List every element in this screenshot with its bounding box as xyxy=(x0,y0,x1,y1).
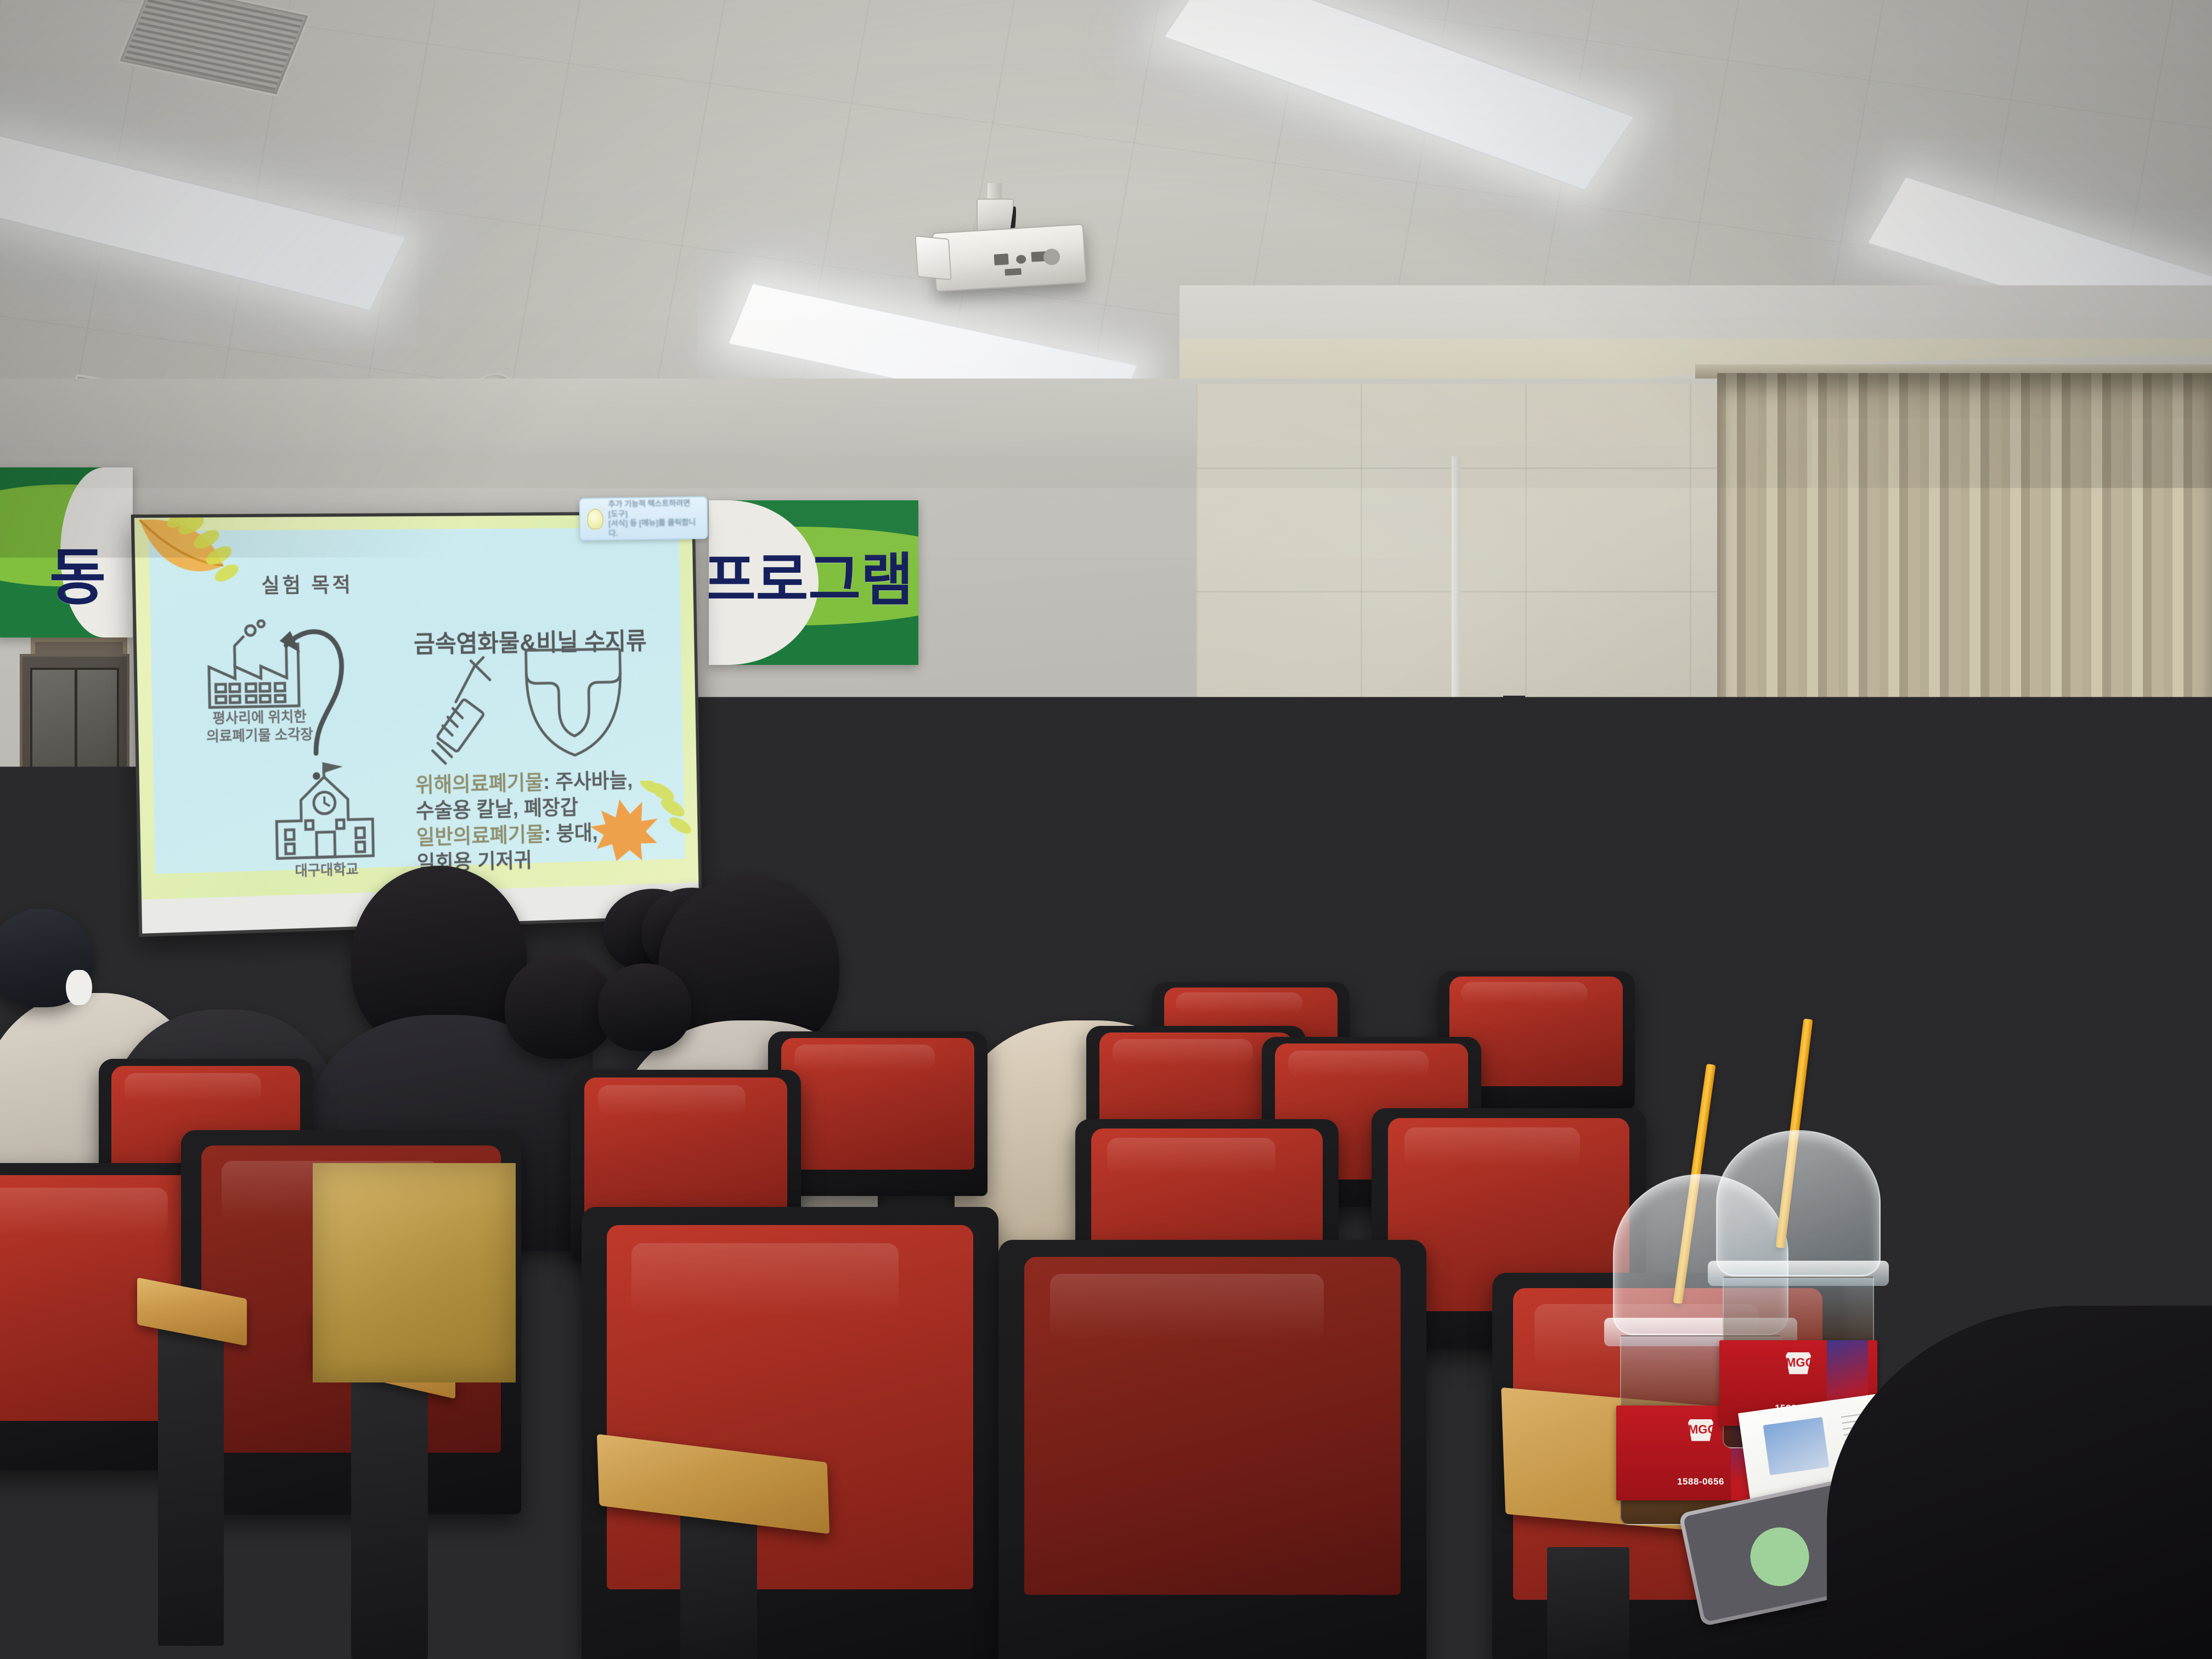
left-banner-text: 동 xyxy=(49,528,106,617)
presentation-slide: 실험 목적 금속염화물&비닐 수지류 xyxy=(134,515,699,900)
mega-coffee-logo: MGC xyxy=(1786,1352,1811,1374)
presenter xyxy=(947,742,1075,879)
syringe-icon xyxy=(422,652,503,766)
audience-head xyxy=(1251,844,1353,933)
face-mask-icon xyxy=(1942,856,1980,916)
slide-body-line-1-kw: 위해의료폐기물 xyxy=(415,771,544,797)
face-mask-icon xyxy=(986,782,1037,816)
audience-head-foreground xyxy=(1964,735,2200,1020)
slide-inner-panel: 실험 목적 금속염화물&비닐 수지류 xyxy=(149,527,685,874)
seat-frame-post xyxy=(1547,1547,1629,1659)
school-caption: 대구대학교 xyxy=(279,860,375,881)
school-icon xyxy=(269,755,381,866)
slide-body-line-3-kw: 일반의료폐기물 xyxy=(416,823,544,849)
lightbulb-icon xyxy=(587,509,604,529)
presenter-hand xyxy=(1000,849,1025,871)
slide-body-text: 위해의료폐기물: 주사바늘, 수술용 칼날, 폐장갑 일반의료폐기물: 붕대, … xyxy=(415,768,635,876)
slide-body-line-2: 수술용 칼날, 폐장갑 xyxy=(416,796,579,822)
seat-foreground[interactable] xyxy=(998,1240,1426,1659)
seat-back-panel xyxy=(313,1163,516,1383)
projector-lens xyxy=(915,235,951,280)
cabinet-glass-door[interactable] xyxy=(30,668,119,794)
left-green-banner: 동 xyxy=(0,467,133,637)
audience-head-foreground xyxy=(1531,707,1816,1014)
speaker-bracket xyxy=(1503,696,1525,712)
seat-foreground[interactable] xyxy=(582,1207,998,1659)
audience-head xyxy=(883,878,981,961)
face-mask-icon xyxy=(1340,882,1362,914)
right-green-banner: 프로그램 xyxy=(709,500,918,665)
projector-body xyxy=(932,224,1087,292)
face-mask-icon xyxy=(66,970,92,1005)
projector-mount xyxy=(977,199,1014,233)
tooltip-text: 추가 기능적 텍스트하려면 [도구] [서식] 등 [메뉴]를 클릭합니다. xyxy=(608,499,701,538)
right-banner-text: 프로그램 xyxy=(709,533,913,616)
audience-head xyxy=(598,963,691,1051)
mega-coffee-logo: MGC xyxy=(1688,1419,1713,1441)
face-mask-icon xyxy=(1362,880,1386,914)
leaf-icon xyxy=(134,515,251,623)
cup-dome-lid xyxy=(1716,1130,1881,1277)
tooltip-line-1: 추가 기능적 텍스트하려면 [도구] xyxy=(608,499,700,519)
slide-title: 실험 목적 xyxy=(261,568,353,599)
seat[interactable] xyxy=(768,1031,988,1196)
powerpoint-tooltip: 추가 기능적 텍스트하려면 [도구] [서식] 등 [메뉴]를 클릭합니다. xyxy=(579,496,708,540)
seat-frame-post xyxy=(158,1317,224,1646)
auditorium-photo: 동 프로그램 xyxy=(0,0,2212,1659)
diaper-icon xyxy=(518,640,629,765)
audience-head xyxy=(1372,836,1477,928)
seat-frame-post xyxy=(351,1361,428,1659)
tooltip-line-2: [서식] 등 [메뉴]를 클릭합니다. xyxy=(608,518,700,538)
face-mask-icon xyxy=(1519,884,1566,955)
ceiling-projector xyxy=(926,225,1091,302)
